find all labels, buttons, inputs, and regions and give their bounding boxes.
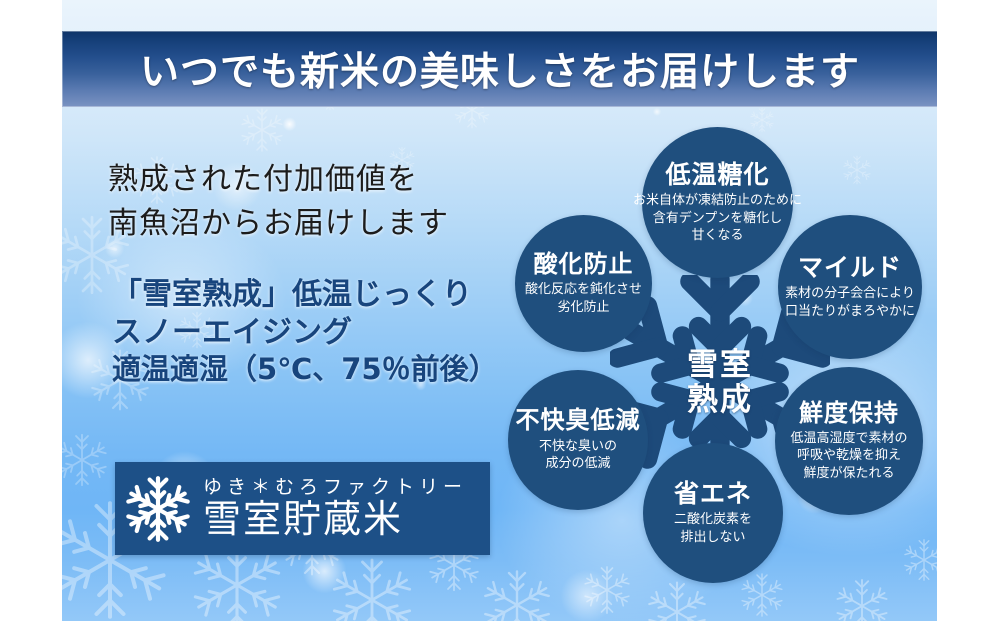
bubble-description: 不快な臭いの 成分の低減 xyxy=(539,438,617,473)
poster-root: いつでも新米の美味しさをお届けします 熟成された付加価値を 南魚沼からお届けしま… xyxy=(0,0,1000,621)
bubble-description: 酸化反応を鈍化させ 劣化防止 xyxy=(525,281,642,316)
snowflake-icon xyxy=(115,462,201,555)
headline-line-1: 「雪室熟成」低温じっくり xyxy=(112,276,532,314)
brand-wordmark: ゆき＊むろファクトリー 雪室貯蔵米 xyxy=(201,477,467,541)
bubble-title: 省エネ xyxy=(674,480,752,508)
lead-line-2: 南魚沼からお届けします xyxy=(108,202,508,246)
brand-logo-plate: ゆき＊むろファクトリー 雪室貯蔵米 xyxy=(115,462,490,555)
headline-line-3: 適温適湿（5℃、75％前後） xyxy=(112,351,532,389)
headline-banner: いつでも新米の美味しさをお届けします xyxy=(62,31,938,107)
bubble-title: マイルド xyxy=(798,254,902,282)
bubble-description: 低温高湿度で素材の 呼吸や乾燥を抑え 鮮度が保たれる xyxy=(790,430,907,482)
bubble-title: 酸化防止 xyxy=(534,251,634,277)
brand-subtitle: ゆき＊むろファクトリー xyxy=(203,477,467,498)
bubble-title: 不快臭低減 xyxy=(516,407,641,433)
lead-line-1: 熟成された付加価値を xyxy=(108,158,508,202)
banner-title: いつでも新米の美味しさをお届けします xyxy=(140,41,860,97)
benefits-diagram: 雪室 熟成 低温糖化 お米自体が凍結防止のために 含有デンプンを糖化し 甘くなる… xyxy=(490,125,950,595)
benefit-bubble-odor-reduction[interactable]: 不快臭低減 不快な臭いの 成分の低減 xyxy=(508,370,648,510)
bubble-title: 低温糖化 xyxy=(665,161,769,189)
headline-copy: 「雪室熟成」低温じっくり スノーエイジング 適温適湿（5℃、75％前後） xyxy=(112,276,532,389)
benefit-bubble-low-temp-saccharification[interactable]: 低温糖化 お米自体が凍結防止のために 含有デンプンを糖化し 甘くなる xyxy=(642,127,793,278)
lead-copy: 熟成された付加価値を 南魚沼からお届けします xyxy=(108,158,508,247)
bubble-title: 鮮度保持 xyxy=(799,400,899,426)
benefit-bubble-energy-saving[interactable]: 省エネ 二酸化炭素を 排出しない xyxy=(643,443,783,583)
benefit-bubble-antioxidation[interactable]: 酸化防止 酸化反応を鈍化させ 劣化防止 xyxy=(515,215,652,352)
bubble-description: お米自体が凍結防止のために 含有デンプンを糖化し 甘くなる xyxy=(633,192,802,244)
bubble-description: 素材の分子会合により 口当たりがまろやかに xyxy=(785,285,915,320)
headline-line-2: スノーエイジング xyxy=(112,314,532,352)
brand-title: 雪室貯蔵米 xyxy=(203,499,467,540)
left-white-margin xyxy=(0,0,62,621)
benefit-bubble-freshness[interactable]: 鮮度保持 低温高湿度で素材の 呼吸や乾燥を抑え 鮮度が保たれる xyxy=(775,367,923,515)
benefit-bubble-mild[interactable]: マイルド 素材の分子会合により 口当たりがまろやかに xyxy=(778,215,922,359)
right-white-margin xyxy=(937,0,1000,621)
bubble-description: 二酸化炭素を 排出しない xyxy=(674,511,752,546)
